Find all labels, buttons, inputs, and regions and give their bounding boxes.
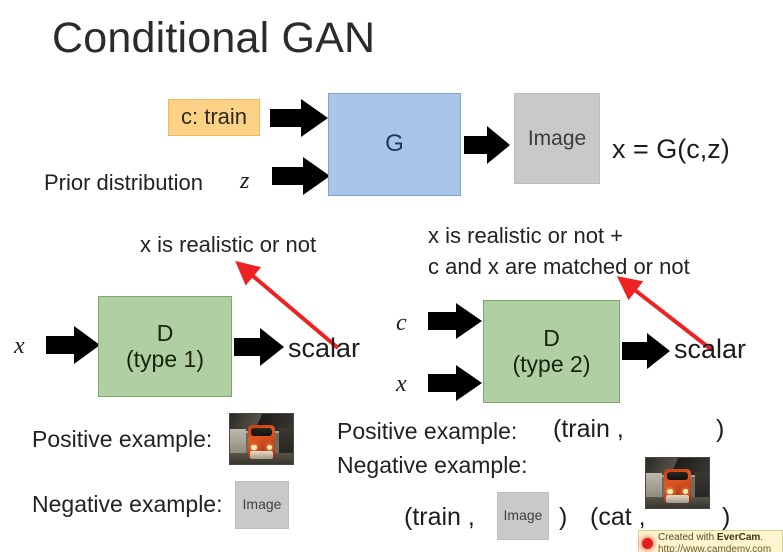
d2-annotation-line1: x is realistic or not +: [428, 223, 623, 249]
d2-negative-pair2-open: (cat ,: [590, 503, 646, 532]
d2-negative-pair1-image-box: Image: [497, 492, 549, 540]
d2-positive-example-train-image: [645, 457, 710, 509]
d1-input-symbol-x: x: [14, 333, 25, 360]
d1-positive-example-train-image: [229, 413, 294, 465]
arrow-d1-to-scalar: [234, 328, 284, 366]
d2-label-line1: D: [543, 326, 560, 352]
prior-symbol-z: z: [240, 168, 249, 195]
arrow-x-to-d2: [428, 365, 482, 401]
arrow-x-to-d1: [46, 326, 100, 364]
watermark-line-1: Created with EverCam.: [658, 532, 771, 544]
d1-negative-example-label: Negative example:: [32, 491, 223, 518]
d1-label-line1: D: [157, 321, 174, 347]
d2-input-symbol-c: c: [396, 310, 407, 337]
d2-input-symbol-x: x: [396, 371, 407, 398]
evercam-watermark[interactable]: Created with EverCam. http://www.camdemy…: [638, 530, 783, 552]
generated-image-box: Image: [514, 93, 600, 184]
d1-output-scalar: scalar: [288, 333, 360, 364]
d2-negative-pair1-close: ): [559, 503, 567, 532]
d2-annotation-line2: c and x are matched or not: [428, 254, 690, 280]
d2-positive-pair-open: (train ,: [553, 415, 624, 444]
watermark-url[interactable]: http://www.camdemy.com: [658, 544, 771, 552]
generator-box: G: [328, 93, 461, 196]
arrow-condition-to-g: [270, 99, 328, 137]
d1-positive-example-label: Positive example:: [32, 426, 212, 453]
watermark-line1-suffix: .: [760, 532, 763, 543]
generator-formula: x = G(c,z): [612, 134, 730, 165]
d1-annotation: x is realistic or not: [140, 232, 316, 258]
slide-canvas: Conditional GAN c: train Prior distribut…: [0, 0, 783, 552]
d2-negative-pair1-open: (train ,: [404, 503, 475, 532]
d2-negative-pair2-close: ): [722, 503, 730, 532]
d1-label-line2: (type 1): [126, 347, 204, 373]
d2-output-scalar: scalar: [674, 334, 746, 365]
record-dot-icon: [642, 538, 653, 549]
page-title: Conditional GAN: [52, 14, 375, 63]
arrow-d2-to-scalar: [622, 333, 670, 369]
condition-input-box: c: train: [168, 99, 260, 136]
d1-negative-example-image-box: Image: [235, 481, 289, 529]
watermark-brand: EverCam: [717, 532, 760, 543]
discriminator-type2-box: D (type 2): [483, 300, 620, 403]
discriminator-type1-box: D (type 1): [98, 296, 232, 397]
d2-negative-example-label: Negative example:: [337, 452, 528, 479]
d2-positive-pair-close: ): [716, 415, 724, 444]
arrow-prior-to-g: [272, 157, 330, 195]
arrow-c-to-d2: [428, 303, 482, 339]
arrow-g-to-image: [464, 126, 510, 164]
d2-label-line2: (type 2): [513, 352, 591, 378]
d2-positive-example-label: Positive example:: [337, 418, 517, 445]
prior-distribution-label: Prior distribution: [44, 170, 203, 196]
watermark-line1-prefix: Created with: [658, 532, 717, 543]
